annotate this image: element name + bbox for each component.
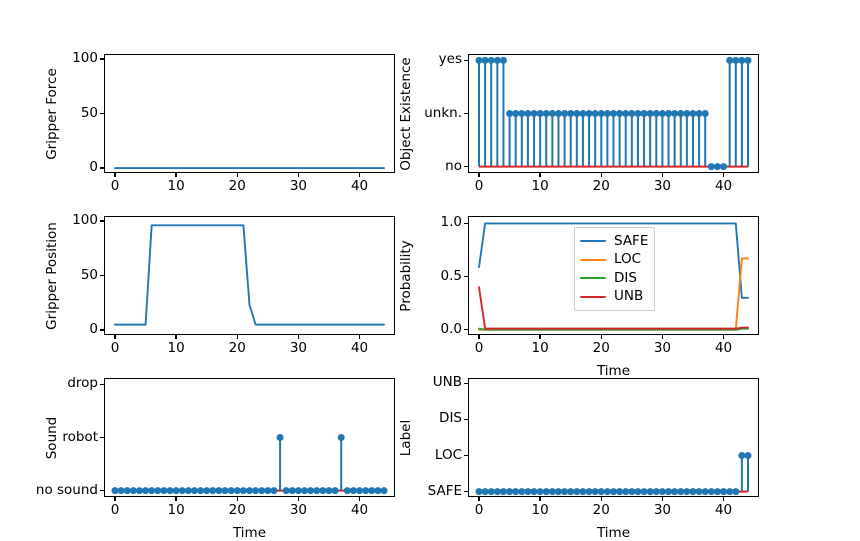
xtick-label-sound-3: 30 [276, 502, 320, 518]
axis-ylabel-sound: Sound [43, 338, 61, 538]
xtick-label-object-existence-2: 20 [579, 178, 623, 194]
xtick-mark [298, 497, 299, 501]
ytick-mark [464, 491, 468, 492]
xtick-mark [662, 335, 663, 339]
legend-label-DIS: DIS [614, 272, 637, 286]
legend-swatch-DIS [580, 277, 606, 279]
axes-label [468, 378, 759, 497]
ytick-mark [464, 383, 468, 384]
axis-xlabel-label: Time [468, 525, 759, 541]
xtick-label-gripper-force-4: 40 [338, 178, 382, 194]
xtick-label-object-existence-1: 10 [518, 178, 562, 194]
xtick-label-gripper-position-1: 10 [154, 340, 198, 356]
ytick-mark [100, 490, 104, 491]
ytick-mark [100, 437, 104, 438]
axis-ylabel-label: Label [397, 338, 415, 538]
ytick-mark [100, 384, 104, 385]
ytick-mark [464, 419, 468, 420]
figure-canvas: 010203040050100Gripper Force010203040nou… [0, 0, 860, 540]
axes-sound [104, 378, 395, 497]
xtick-label-gripper-force-3: 30 [276, 178, 320, 194]
xtick-label-gripper-force-0: 0 [93, 178, 137, 194]
ytick-mark [100, 220, 104, 221]
xtick-mark [539, 497, 540, 501]
xtick-mark [478, 335, 479, 339]
xtick-mark [114, 497, 115, 501]
xtick-label-sound-1: 10 [154, 502, 198, 518]
xtick-label-label-0: 0 [457, 502, 501, 518]
axes-object-existence [468, 54, 759, 173]
xtick-mark [478, 173, 479, 177]
xtick-label-gripper-position-0: 0 [93, 340, 137, 356]
legend-probability: SAFELOCDISUNB [574, 227, 655, 311]
xtick-mark [114, 173, 115, 177]
axis-xlabel-probability: Time [468, 363, 759, 379]
xtick-mark [662, 173, 663, 177]
legend-item-UNB[interactable]: UNB [580, 288, 648, 307]
xtick-mark [175, 335, 176, 339]
xtick-label-probability-3: 30 [640, 340, 684, 356]
xtick-label-probability-0: 0 [457, 340, 501, 356]
xtick-label-object-existence-0: 0 [457, 178, 501, 194]
xtick-mark [237, 335, 238, 339]
xtick-label-gripper-force-1: 10 [154, 178, 198, 194]
xtick-label-gripper-position-2: 20 [215, 340, 259, 356]
legend-item-DIS[interactable]: DIS [580, 269, 648, 288]
xtick-mark [478, 497, 479, 501]
ytick-mark [100, 329, 104, 330]
xtick-label-gripper-position-4: 40 [338, 340, 382, 356]
xtick-label-object-existence-4: 40 [702, 178, 746, 194]
xtick-label-object-existence-3: 30 [640, 178, 684, 194]
xtick-mark [601, 335, 602, 339]
xtick-label-gripper-force-2: 20 [215, 178, 259, 194]
ytick-mark [464, 113, 468, 114]
xtick-mark [723, 335, 724, 339]
xtick-mark [175, 173, 176, 177]
xtick-mark [539, 335, 540, 339]
legend-swatch-SAFE [580, 240, 606, 242]
xtick-label-label-4: 40 [702, 502, 746, 518]
xtick-mark [601, 173, 602, 177]
xtick-mark [662, 497, 663, 501]
legend-swatch-LOC [580, 259, 606, 261]
ytick-mark [464, 329, 468, 330]
xtick-label-probability-2: 20 [579, 340, 623, 356]
ytick-mark [100, 275, 104, 276]
xtick-mark [114, 335, 115, 339]
axis-xlabel-sound: Time [104, 525, 395, 541]
legend-label-UNB: UNB [614, 290, 643, 304]
ytick-mark [100, 58, 104, 59]
xtick-mark [539, 173, 540, 177]
xtick-mark [298, 335, 299, 339]
xtick-label-sound-4: 40 [338, 502, 382, 518]
legend-item-LOC[interactable]: LOC [580, 251, 648, 270]
xtick-label-gripper-position-3: 30 [276, 340, 320, 356]
legend-label-LOC: LOC [614, 253, 641, 267]
xtick-mark [237, 497, 238, 501]
xtick-label-label-1: 10 [518, 502, 562, 518]
xtick-mark [723, 497, 724, 501]
ytick-mark [464, 455, 468, 456]
ytick-mark [464, 276, 468, 277]
ytick-mark [464, 166, 468, 167]
xtick-label-sound-0: 0 [93, 502, 137, 518]
xtick-mark [298, 173, 299, 177]
ytick-mark [464, 223, 468, 224]
xtick-label-label-2: 20 [579, 502, 623, 518]
legend-swatch-UNB [580, 296, 606, 298]
xtick-label-sound-2: 20 [215, 502, 259, 518]
xtick-mark [237, 173, 238, 177]
xtick-label-probability-4: 40 [702, 340, 746, 356]
xtick-mark [601, 497, 602, 501]
ytick-mark [100, 167, 104, 168]
xtick-label-label-3: 30 [640, 502, 684, 518]
ytick-mark [464, 60, 468, 61]
legend-item-SAFE[interactable]: SAFE [580, 232, 648, 251]
xtick-mark [175, 497, 176, 501]
legend-label-SAFE: SAFE [614, 235, 648, 249]
xtick-label-probability-1: 10 [518, 340, 562, 356]
ytick-mark [100, 113, 104, 114]
xtick-mark [723, 173, 724, 177]
